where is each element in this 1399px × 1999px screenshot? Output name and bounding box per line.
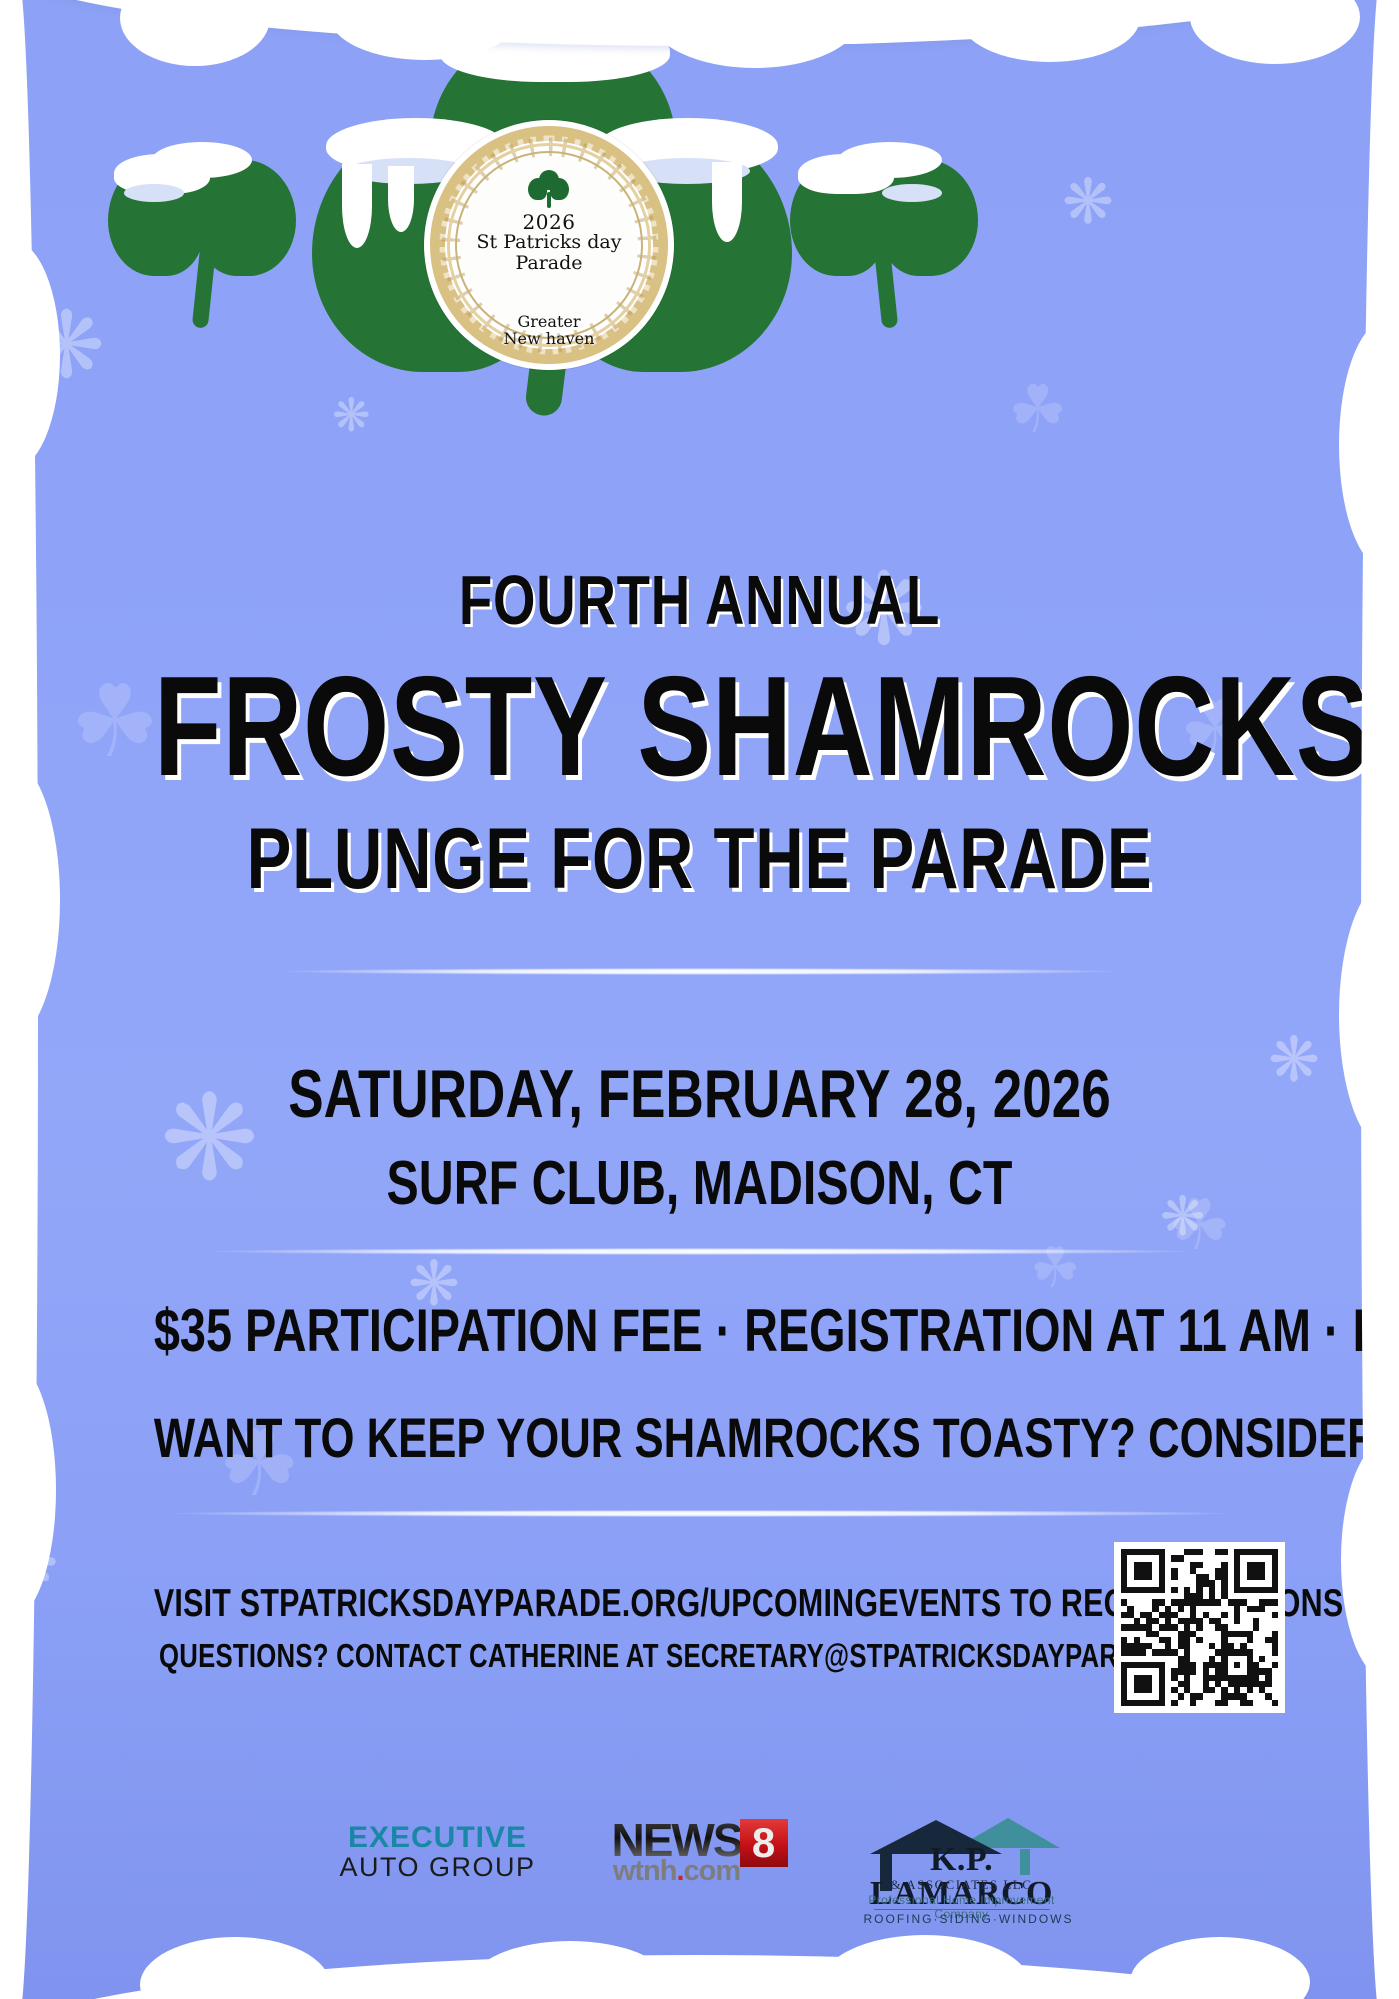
headline-subtitle: Plunge for the Parade [154, 810, 1245, 909]
snow-frame-blob [0, 760, 60, 1040]
kp-lamarco-assoc: & ASSOCIATES LLC [864, 1877, 1060, 1893]
event-fee-line: $35 Participation Fee · Registration at … [154, 1296, 1245, 1365]
kp-lamarco-services: ROOFING·SIDING·WINDOWS [864, 1912, 1060, 1926]
kp-lamarco-rule [874, 1909, 1050, 1910]
executive-logo-line1: EXECUTIVE [339, 1822, 535, 1854]
snow-frame-blob [0, 1360, 56, 1620]
sponsor-prompt: Want to Keep your Shamrocks Toasty? Cons… [154, 1405, 1245, 1470]
sponsor-logo-row: EXECUTIVE AUTO GROUP NEWS wtnh.com 8 K.P… [0, 1795, 1399, 1910]
news8-domain: wtnh.com [612, 1857, 742, 1886]
medallion-arc-text: Greater New haven [424, 313, 674, 348]
snow-frame-bottom [0, 1955, 1399, 1999]
medallion-line1: St Patricks day [477, 232, 622, 253]
qr-code-matrix [1121, 1549, 1278, 1706]
event-venue: Surf Club, Madison, CT [154, 1148, 1245, 1219]
snow-frame-blob [140, 1937, 330, 1999]
medallion-year: 2026 [523, 212, 576, 232]
shamrock-left [108, 150, 300, 330]
divider-rule [210, 1248, 1190, 1255]
news8-channel-badge: 8 [740, 1819, 788, 1867]
medallion-inner-face: 2026 St Patricks day Parade [460, 156, 638, 334]
poster-canvas: ❋ ❋ ❋ ❋ ❋ ❋ ❋ ❋ ❋ ☘ ☘ ☘ ☘ ☘ ☘ [0, 0, 1399, 1999]
parade-medallion: 2026 St Patricks day Parade Greater New … [424, 120, 674, 370]
snowflake-icon: ❋ [1268, 1030, 1320, 1092]
snow-frame-blob [1339, 880, 1399, 1150]
divider-rule [170, 1510, 1230, 1517]
event-date: Saturday, February 28, 2026 [154, 1055, 1245, 1133]
sponsor-logo-news8-wtnh: NEWS wtnh.com 8 [612, 1819, 788, 1886]
qr-code[interactable] [1114, 1542, 1285, 1713]
shamrock-right [790, 150, 982, 330]
registration-url-line: Visit stpatricksdayparade.org/upcomingev… [154, 1582, 1245, 1626]
shamrock-icon: ☘ [70, 672, 160, 772]
medallion-line2: Parade [515, 253, 582, 274]
sponsor-logo-executive-auto-group: EXECUTIVE AUTO GROUP [339, 1822, 535, 1883]
medallion-arc-line2: New haven [424, 330, 674, 348]
sponsor-logo-kp-lamarco: K.P. LAMARCO & ASSOCIATES LLC Profession… [864, 1807, 1060, 1899]
hero-shamrock-cluster: 2026 St Patricks day Parade Greater New … [0, 0, 1399, 430]
medallion-arc-line1: Greater [424, 313, 674, 331]
snowflake-icon: ❋ [0, 1528, 59, 1598]
contact-email-line: Questions? contact Catherine at secretar… [154, 1637, 1245, 1675]
divider-rule [285, 968, 1115, 975]
snow-frame-blob [820, 1935, 1030, 1999]
page-title: Frosty Shamrocks [154, 645, 1245, 809]
headline-kicker: Fourth Annual [154, 560, 1245, 640]
shamrock-icon [528, 170, 570, 210]
snow-frame-blob [1341, 1440, 1399, 1680]
snow-frame-blob [1130, 1937, 1310, 1999]
executive-logo-line2: AUTO GROUP [339, 1853, 535, 1883]
snow-frame-blob [470, 1941, 670, 1999]
